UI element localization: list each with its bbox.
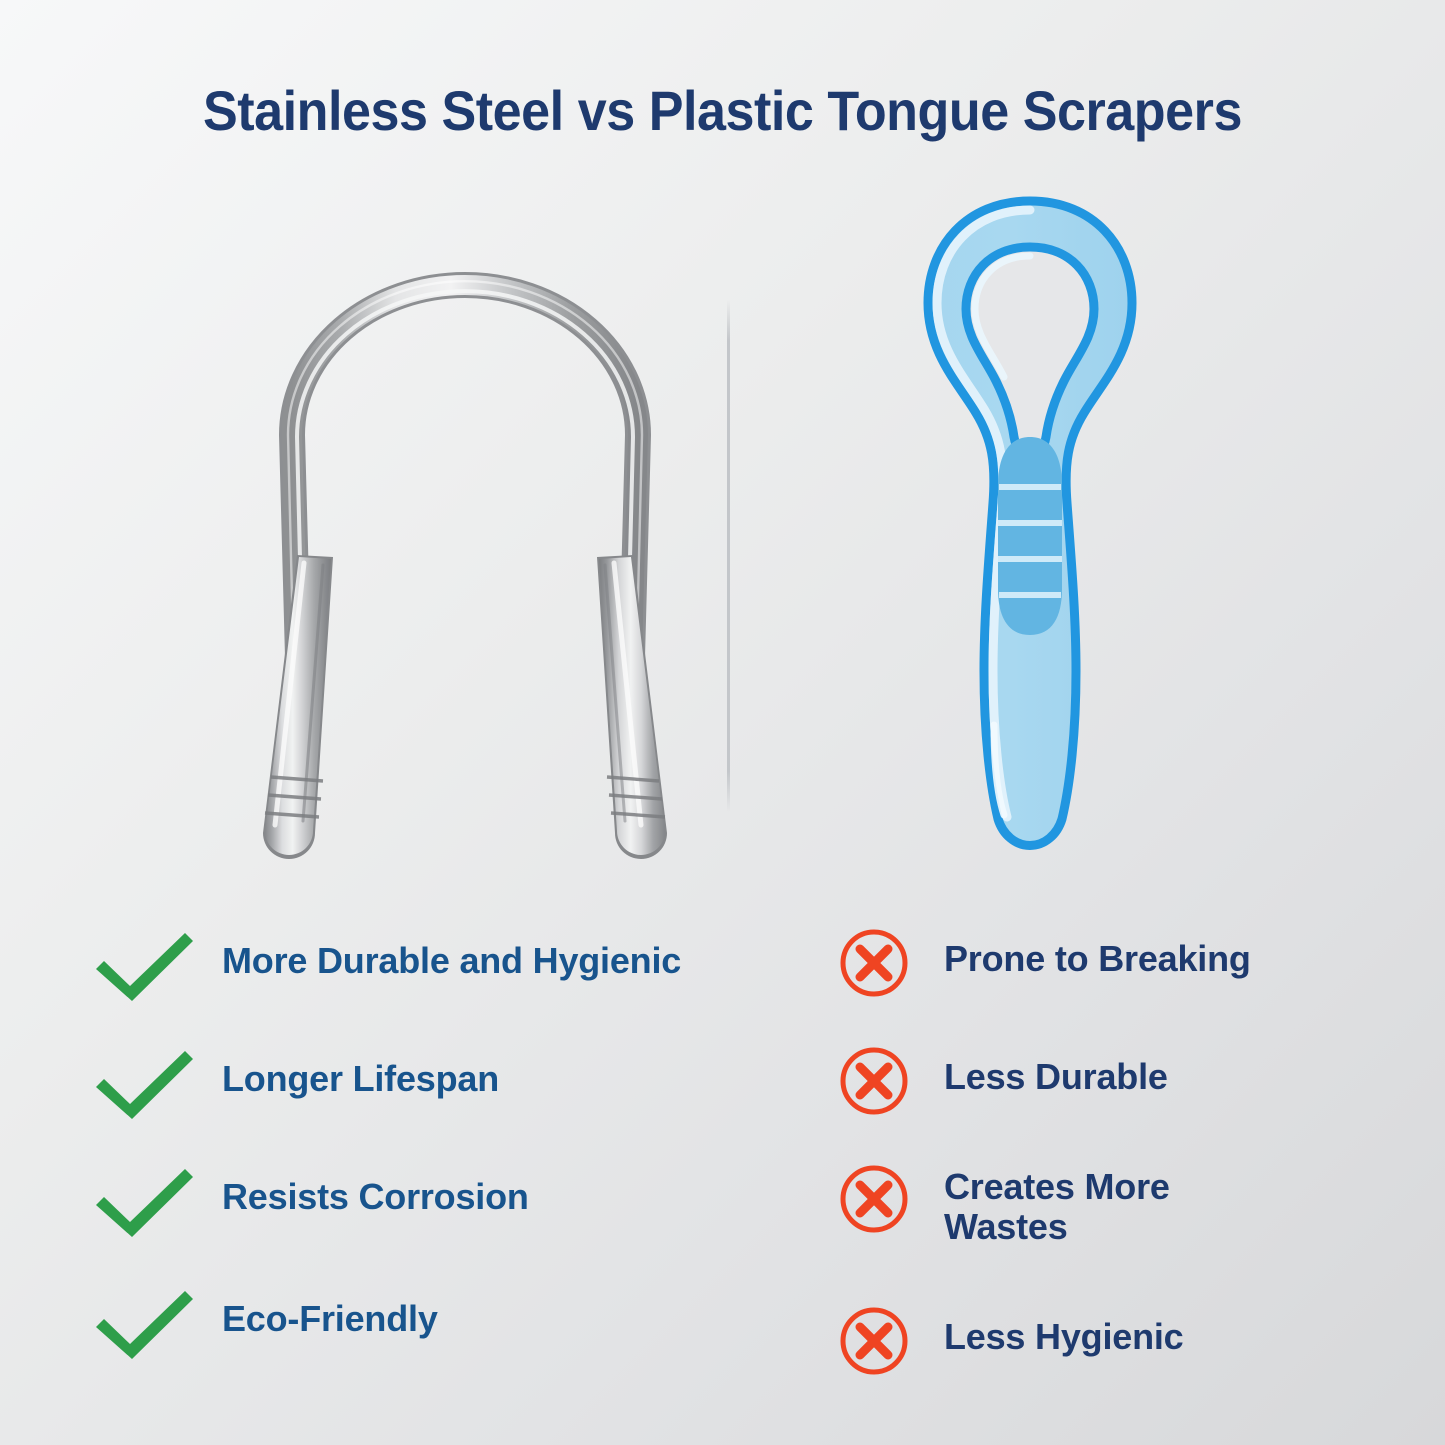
cons-list-item: Less Durable	[838, 1045, 1168, 1122]
plastic-grip-pad	[998, 437, 1062, 635]
pros-list-item: More Durable and Hygienic	[90, 927, 681, 1010]
cons-item-label: Less Hygienic	[944, 1305, 1184, 1357]
vertical-divider	[727, 300, 730, 812]
pros-item-label: Longer Lifespan	[222, 1045, 499, 1099]
pros-item-label: More Durable and Hygienic	[222, 927, 681, 981]
pros-item-label: Eco-Friendly	[222, 1285, 438, 1339]
cons-item-label: Prone to Breaking	[944, 927, 1251, 979]
cons-item-label: Creates More Wastes	[944, 1163, 1274, 1248]
pros-list-item: Eco-Friendly	[90, 1285, 438, 1368]
cons-list-item: Creates More Wastes	[838, 1163, 1274, 1248]
plastic-scraper-icon	[880, 185, 1180, 885]
infographic-root: Stainless Steel vs Plastic Tongue Scrape…	[0, 0, 1445, 1445]
pros-item-label: Resists Corrosion	[222, 1163, 529, 1217]
stainless-steel-scraper-illustration	[205, 185, 725, 885]
check-icon	[90, 1045, 222, 1128]
pros-list-item: Resists Corrosion	[90, 1163, 529, 1246]
plastic-scraper-illustration	[880, 185, 1180, 885]
comparison-lists: More Durable and Hygienic Longer Lifespa…	[0, 905, 1445, 1445]
circle-x-icon	[838, 927, 944, 1004]
circle-x-icon	[838, 1305, 944, 1382]
circle-x-icon	[838, 1045, 944, 1122]
check-icon	[90, 1163, 222, 1246]
steel-scraper-icon	[205, 185, 725, 885]
cons-list-item: Less Hygienic	[838, 1305, 1184, 1382]
cons-item-label: Less Durable	[944, 1045, 1168, 1097]
steel-handle-right	[597, 555, 667, 859]
circle-x-icon	[838, 1163, 944, 1240]
cons-list-item: Prone to Breaking	[838, 927, 1251, 1004]
product-illustrations	[0, 0, 1445, 900]
steel-handle-left	[263, 555, 333, 859]
check-icon	[90, 1285, 222, 1368]
check-icon	[90, 927, 222, 1010]
pros-list-item: Longer Lifespan	[90, 1045, 499, 1128]
